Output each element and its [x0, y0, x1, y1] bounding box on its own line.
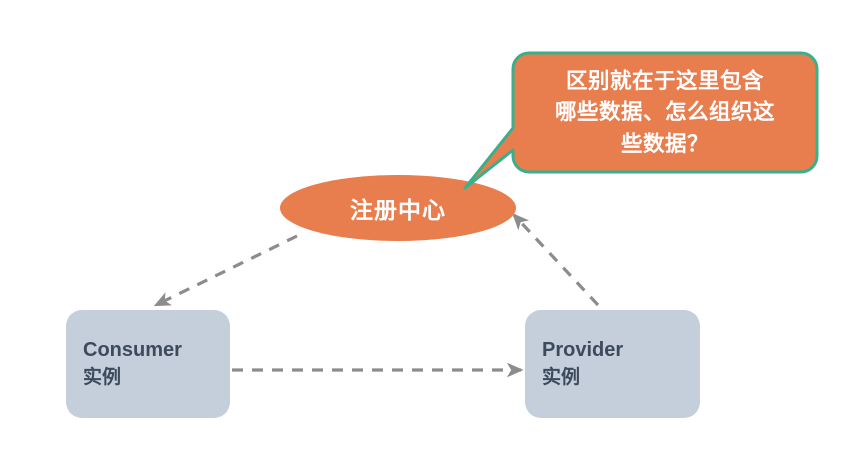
edge-registry-to-consumer	[156, 236, 297, 305]
node-provider[interactable]	[525, 310, 700, 418]
edge-provider-to-registry	[514, 215, 598, 305]
node-consumer[interactable]	[66, 310, 230, 418]
node-layer	[66, 175, 700, 418]
callout-shape-group	[465, 53, 817, 188]
diagram-svg	[0, 0, 850, 476]
callout-bubble[interactable]	[465, 53, 817, 188]
diagram-canvas: 注册中心 Consumer 实例 Provider 实例 区别就在于这里包含 哪…	[0, 0, 850, 476]
node-registry[interactable]	[280, 175, 516, 241]
